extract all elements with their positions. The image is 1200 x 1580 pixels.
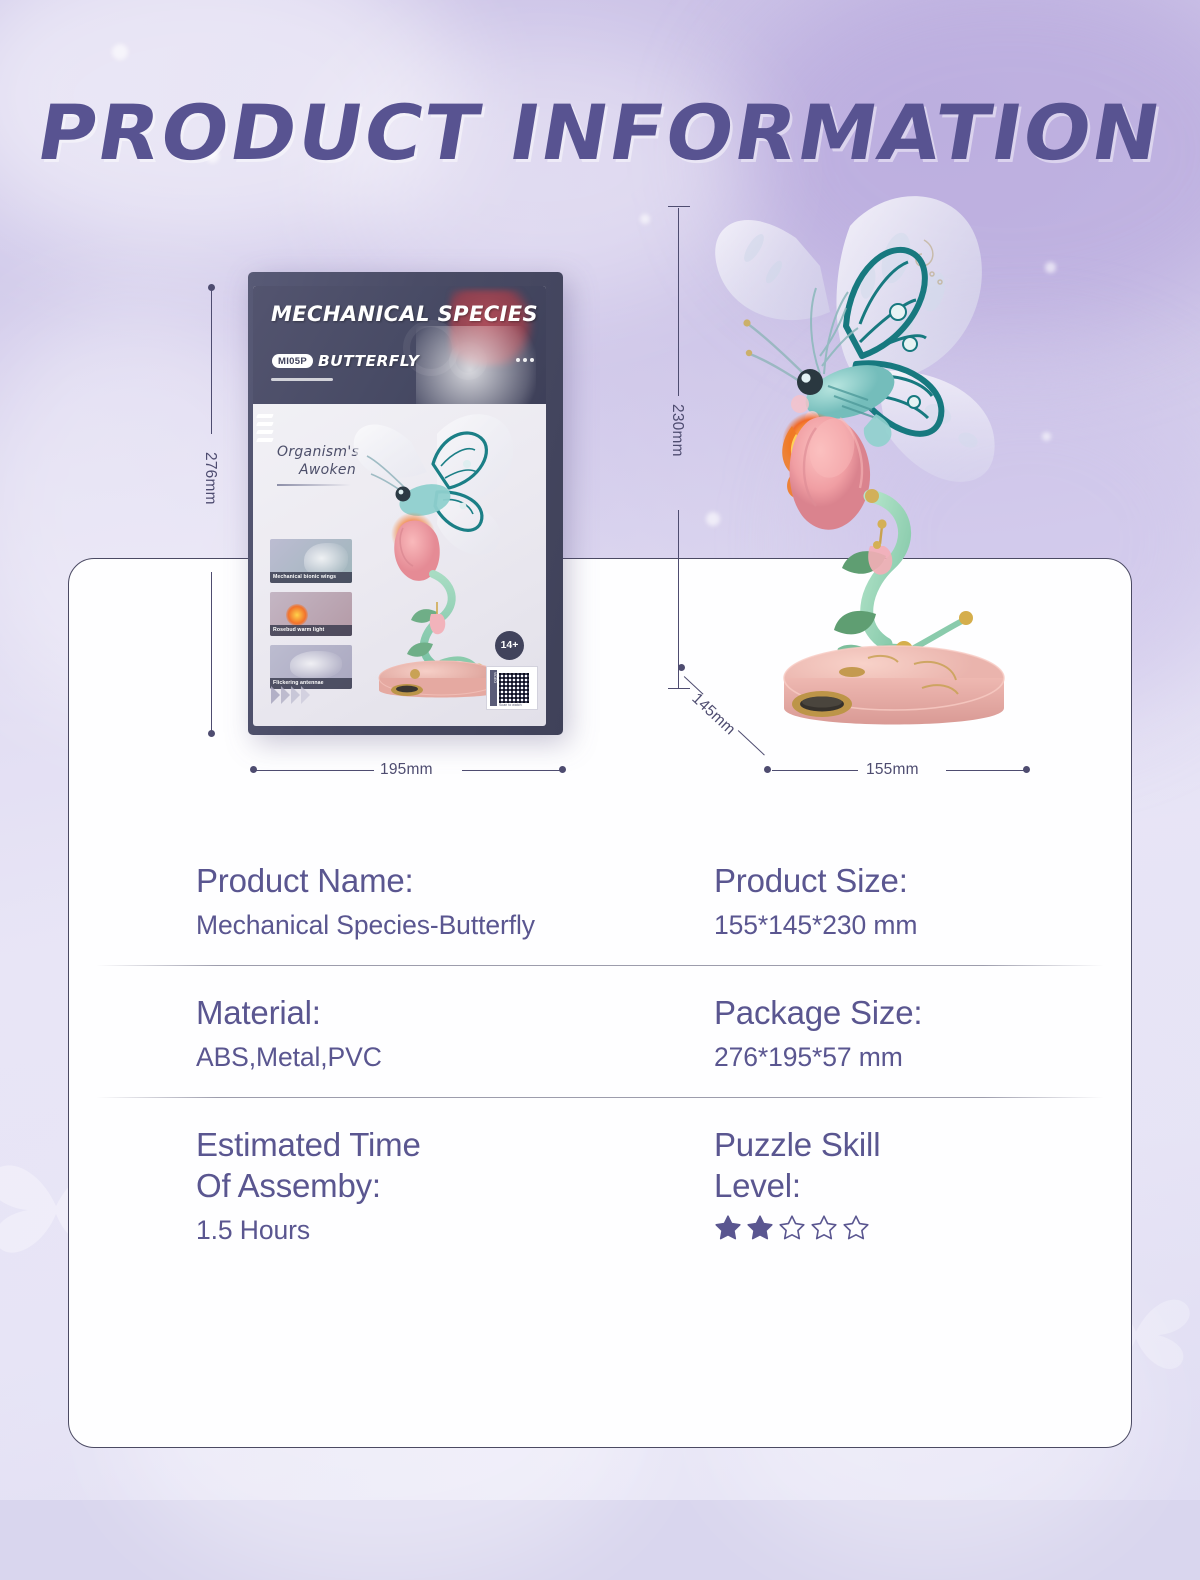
spec-row: Estimated Time Of Assemby: 1.5 Hours Puz… [68,1098,1132,1248]
dimension-label-package-width: 195mm [380,761,433,779]
dimension-line [211,572,212,732]
spec-cell-assembly-time: Estimated Time Of Assemby: 1.5 Hours [68,1124,584,1248]
star-empty-icon [842,1214,870,1242]
dimension-line [772,770,858,771]
dimension-line [738,730,765,756]
dimension-line [256,770,374,771]
dimension-line [462,770,560,771]
star-empty-icon [778,1214,806,1242]
spec-value: Mechanical Species-Butterfly [196,907,584,943]
dimension-line [946,770,1024,771]
skill-level-stars [714,1214,1132,1242]
dimension-endpoint [208,730,215,737]
spec-label: Package Size: [714,992,1132,1033]
dimension-label-product-depth: 145mm [688,690,739,739]
star-filled-icon [714,1214,742,1242]
spec-cell-product-size: Product Size: 155*145*230 mm [584,860,1132,943]
spec-cell-material: Material: ABS,Metal,PVC [68,992,584,1075]
spec-label: Product Name: [196,860,584,901]
dimension-label-package-height: 276mm [201,452,219,505]
dimension-label-product-height: 230mm [668,404,686,457]
star-filled-icon [746,1214,774,1242]
spec-value: 155*145*230 mm [714,907,1132,943]
dimension-label-product-width: 155mm [866,761,919,779]
spec-cell-product-name: Product Name: Mechanical Species-Butterf… [68,860,584,943]
dimension-line [678,510,679,688]
dimension-line [211,288,212,434]
spec-label: Material: [196,992,584,1033]
dimension-endpoint [559,766,566,773]
spec-label: Puzzle Skill Level: [714,1124,1132,1206]
dimension-callouts: 276mm 195mm 230mm 145mm 155mm [0,0,1200,1500]
spec-label: Product Size: [714,860,1132,901]
spec-row: Product Name: Mechanical Species-Butterf… [68,860,1132,965]
spec-value: ABS,Metal,PVC [196,1039,584,1075]
spec-label: Estimated Time Of Assemby: [196,1124,584,1206]
dimension-endpoint [1023,766,1030,773]
page-title-container: PRODUCT INFORMATION [0,88,1200,177]
spec-cell-skill-level: Puzzle Skill Level: [584,1124,1132,1248]
dimension-endpoint [764,766,771,773]
dimension-endpoint [678,664,685,671]
spec-table: Product Name: Mechanical Species-Butterf… [68,860,1132,1248]
star-empty-icon [810,1214,838,1242]
page-title: PRODUCT INFORMATION [31,88,1168,177]
dimension-line [678,208,679,396]
spec-value: 1.5 Hours [196,1212,584,1248]
spec-value: 276*195*57 mm [714,1039,1132,1075]
spec-cell-package-size: Package Size: 276*195*57 mm [584,992,1132,1075]
dimension-tick [668,688,690,689]
spec-row: Material: ABS,Metal,PVC Package Size: 27… [68,966,1132,1097]
